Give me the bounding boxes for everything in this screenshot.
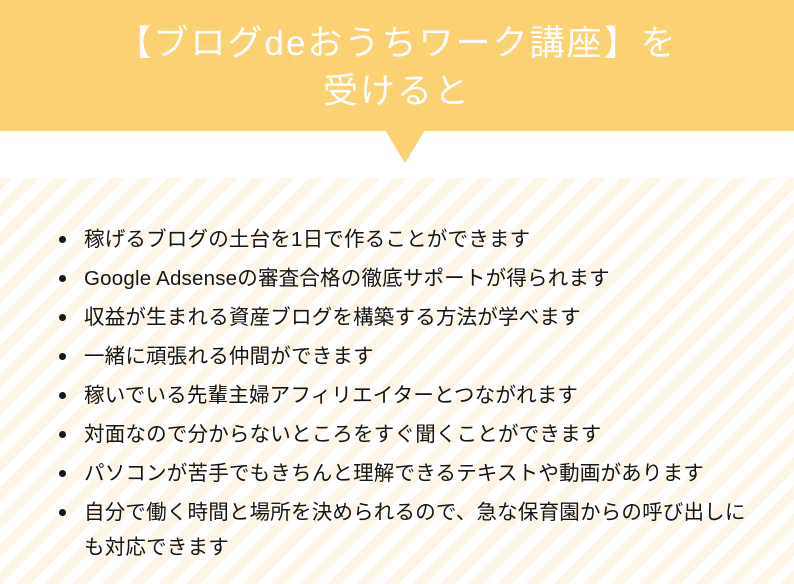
bullet-dot-icon <box>59 431 66 438</box>
list-item-label: パソコンが苦手でもきちんと理解できるテキストや動画があります <box>84 462 704 485</box>
header-title-line-2: 受けると <box>323 68 471 116</box>
list-item-label: 一緒に頑張れる仲間ができます <box>84 345 374 368</box>
list-item-label: 自分で働く時間と場所を決められるので、急な保育園からの呼び出しにも対応できます <box>84 501 746 559</box>
list-item: 自分で働く時間と場所を決められるので、急な保育園からの呼び出しにも対応できます <box>58 495 764 565</box>
bullet-dot-icon <box>59 353 66 360</box>
list-item-label: 稼いでいる先輩主婦アフィリエイターとつながれます <box>84 384 578 407</box>
list-item-label: 対面なので分からないところをすぐ聞くことができます <box>84 423 602 446</box>
bullet-dot-icon <box>59 236 66 243</box>
promo-slide: 【ブログdeおうちワーク講座】を 受けると 稼げるブログの土台を1日で作ることが… <box>0 0 794 584</box>
speech-bubble-tail-icon <box>385 130 425 163</box>
bullet-dot-icon <box>59 509 66 516</box>
list-item-label: 収益が生まれる資産ブログを構築する方法が学べます <box>84 306 581 329</box>
bullet-dot-icon <box>59 275 66 282</box>
list-item: 一緒に頑張れる仲間ができます <box>58 339 764 374</box>
bullet-dot-icon <box>59 314 66 321</box>
list-item-label: Google Adsenseの審査合格の徹底サポートが得られます <box>84 267 610 290</box>
bullet-dot-icon <box>59 470 66 477</box>
list-item: 稼いでいる先輩主婦アフィリエイターとつながれます <box>58 378 764 413</box>
list-item-label: 稼げるブログの土台を1日で作ることができます <box>84 228 530 251</box>
list-item: 収益が生まれる資産ブログを構築する方法が学べます <box>58 300 764 335</box>
list-item: 対面なので分からないところをすぐ聞くことができます <box>58 417 764 452</box>
list-item: Google Adsenseの審査合格の徹底サポートが得られます <box>58 261 764 296</box>
header-banner: 【ブログdeおうちワーク講座】を 受けると <box>0 0 794 131</box>
list-item: パソコンが苦手でもきちんと理解できるテキストや動画があります <box>58 456 764 491</box>
bullet-dot-icon <box>59 392 66 399</box>
benefits-list: 稼げるブログの土台を1日で作ることができます Google Adsenseの審査… <box>0 178 794 584</box>
list-item: 稼げるブログの土台を1日で作ることができます <box>58 222 764 257</box>
header-title-line-1: 【ブログdeおうちワーク講座】を <box>117 20 678 68</box>
